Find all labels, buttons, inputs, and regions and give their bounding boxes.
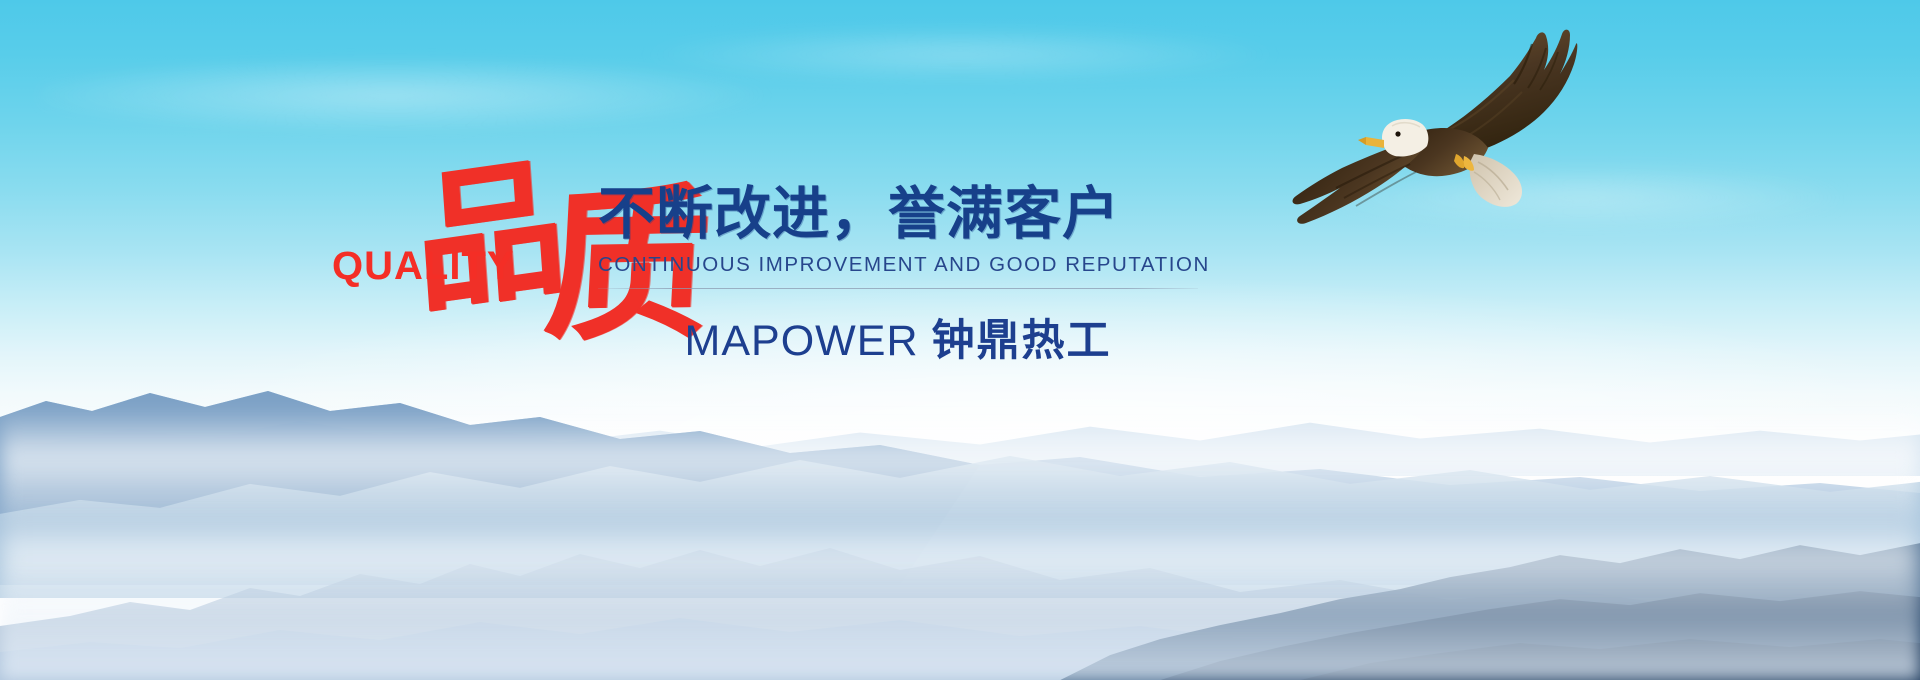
company-name: MAPOWER 钟鼎热工 <box>598 306 1198 368</box>
slogan-subline-english: CONTINUOUS IMPROVEMENT AND GOOD REPUTATI… <box>598 253 1198 277</box>
slogan-column: 不断改进，誉满客户 CONTINUOUS IMPROVEMENT AND GOO… <box>598 184 1198 368</box>
hero-banner: 品质 QUALITY 不断改进，誉满客户 CONTINUOUS IMPROVEM… <box>0 0 1920 680</box>
fog-band-lower <box>0 558 1920 680</box>
brush-char-pin: 品 <box>409 153 557 321</box>
divider-rule <box>598 288 1198 289</box>
quality-label: QUALITY <box>332 244 515 289</box>
cloud-wisp-top <box>576 14 1344 96</box>
headline-text-block: 品质 QUALITY 不断改进，誉满客户 CONTINUOUS IMPROVEM… <box>400 168 1530 428</box>
company-name-cn: 钟鼎热工 <box>931 317 1111 365</box>
slogan-headline: 不断改进，誉满客户 <box>598 184 1198 246</box>
company-name-en: MAPOWER <box>685 317 919 365</box>
